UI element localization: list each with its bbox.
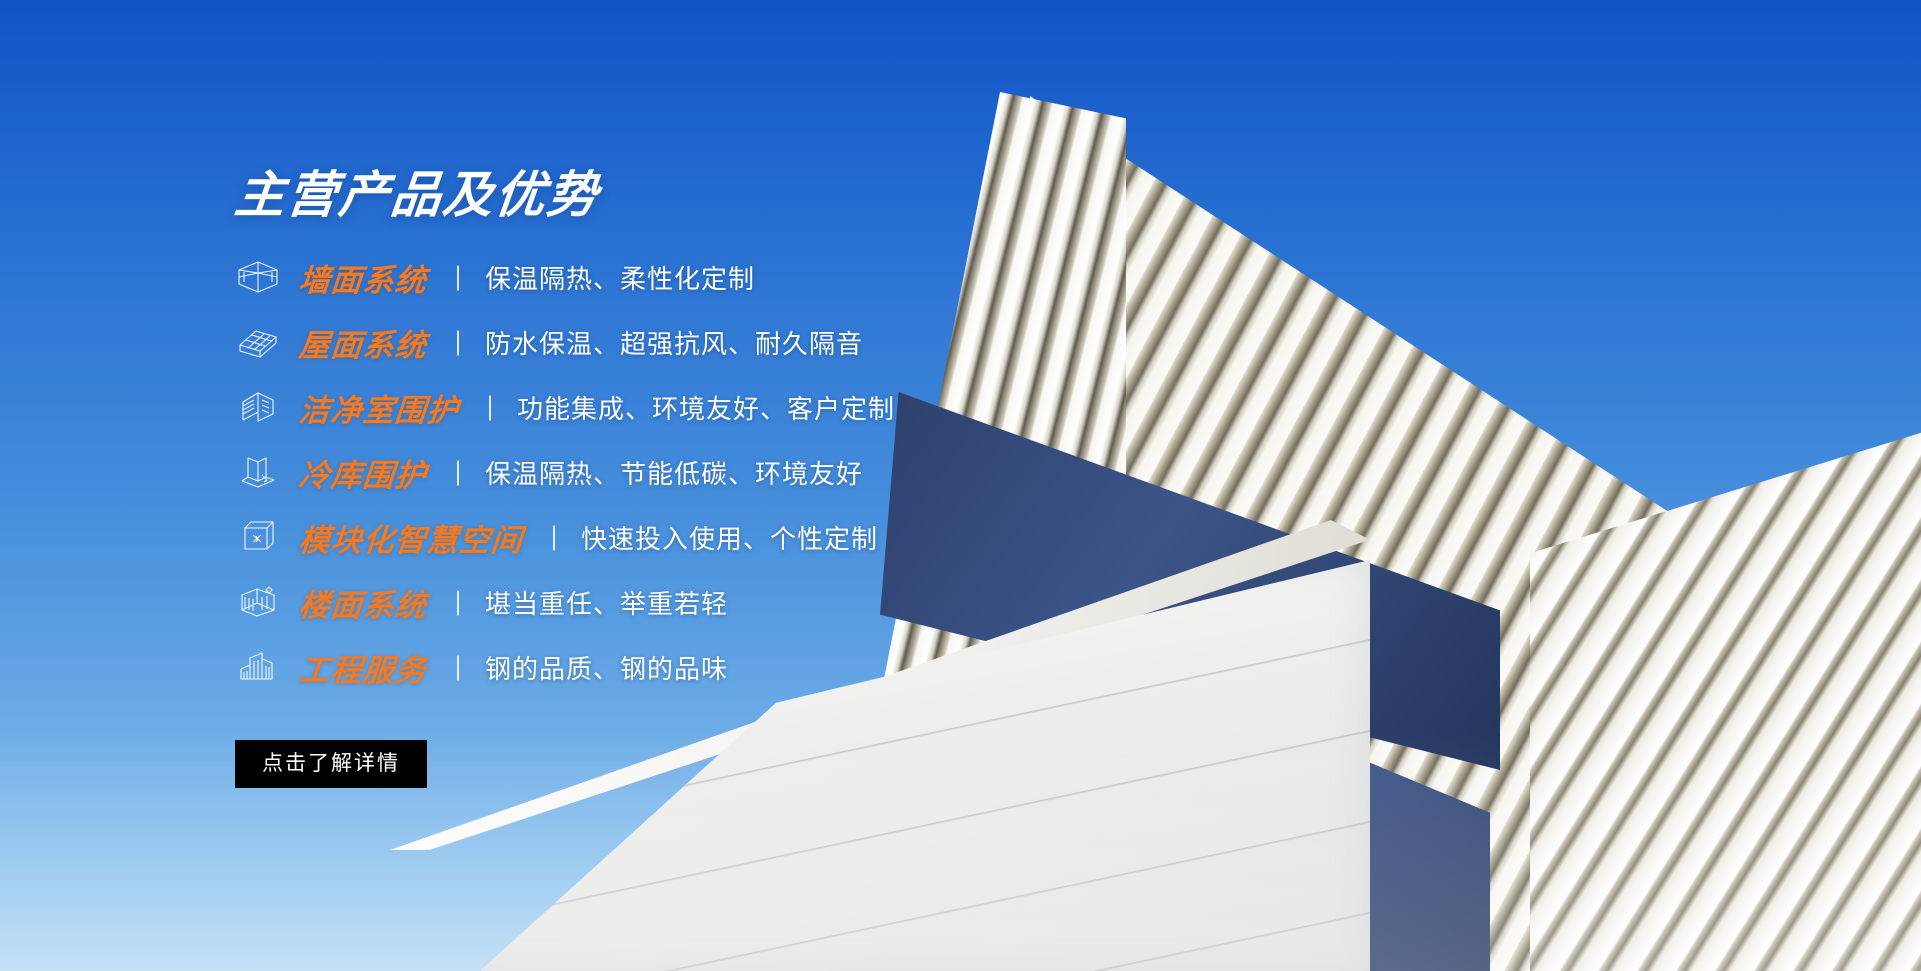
- modular-smart-space-icon: [235, 516, 281, 558]
- cold-storage-envelope-icon: [235, 451, 281, 493]
- feature-separator: 丨: [451, 454, 465, 491]
- list-item[interactable]: 模块化智慧空间 丨 快速投入使用、个性定制: [235, 509, 1115, 565]
- building-right-edge-bands: [1530, 430, 1921, 971]
- feature-label: 墙面系统: [297, 255, 429, 300]
- building-right-facade: [1030, 96, 1921, 971]
- feature-separator: 丨: [483, 389, 497, 426]
- product-feature-list: 墙面系统 丨 保温隔热、柔性化定制 屋面系统 丨 防水保温、超强抗风、耐久隔音: [235, 249, 1115, 695]
- feature-desc: 防水保温、超强抗风、耐久隔音: [485, 324, 863, 361]
- feature-separator: 丨: [547, 519, 561, 556]
- roof-system-icon: [235, 321, 281, 363]
- floor-system-icon: [235, 581, 281, 623]
- feature-label: 楼面系统: [297, 580, 429, 625]
- feature-separator: 丨: [451, 584, 465, 621]
- list-item[interactable]: 工程服务 丨 钢的品质、钢的品味: [235, 639, 1115, 695]
- wall-system-icon: [235, 256, 281, 298]
- feature-label: 模块化智慧空间: [297, 515, 525, 560]
- list-item[interactable]: 冷库围护 丨 保温隔热、节能低碳、环境友好: [235, 444, 1115, 500]
- feature-desc: 快速投入使用、个性定制: [581, 519, 878, 556]
- feature-desc: 保温隔热、柔性化定制: [485, 259, 755, 296]
- engineering-service-icon: [235, 646, 281, 688]
- feature-desc: 堪当重任、举重若轻: [485, 584, 728, 621]
- feature-label: 洁净室围护: [297, 385, 461, 430]
- learn-more-button[interactable]: 点击了解详情: [235, 740, 427, 788]
- list-item[interactable]: 洁净室围护 丨 功能集成、环境友好、客户定制: [235, 379, 1115, 435]
- hero-content: 主营产品及优势 墙面系统 丨 保温隔热、柔性化定制: [235, 168, 1115, 788]
- list-item[interactable]: 楼面系统 丨 堪当重任、举重若轻: [235, 574, 1115, 630]
- feature-desc: 钢的品质、钢的品味: [485, 649, 728, 686]
- page-title: 主营产品及优势: [232, 168, 1118, 223]
- cleanroom-envelope-icon: [235, 386, 281, 428]
- feature-label: 工程服务: [297, 645, 429, 690]
- hero-banner: 主营产品及优势 墙面系统 丨 保温隔热、柔性化定制: [0, 0, 1921, 971]
- feature-separator: 丨: [451, 259, 465, 296]
- list-item[interactable]: 墙面系统 丨 保温隔热、柔性化定制: [235, 249, 1115, 305]
- feature-desc: 保温隔热、节能低碳、环境友好: [485, 454, 863, 491]
- building-navy-band-lower: [1090, 600, 1490, 971]
- feature-desc: 功能集成、环境友好、客户定制: [517, 389, 895, 426]
- feature-label: 屋面系统: [297, 320, 429, 365]
- feature-label: 冷库围护: [297, 450, 429, 495]
- list-item[interactable]: 屋面系统 丨 防水保温、超强抗风、耐久隔音: [235, 314, 1115, 370]
- feature-separator: 丨: [451, 649, 465, 686]
- feature-separator: 丨: [451, 324, 465, 361]
